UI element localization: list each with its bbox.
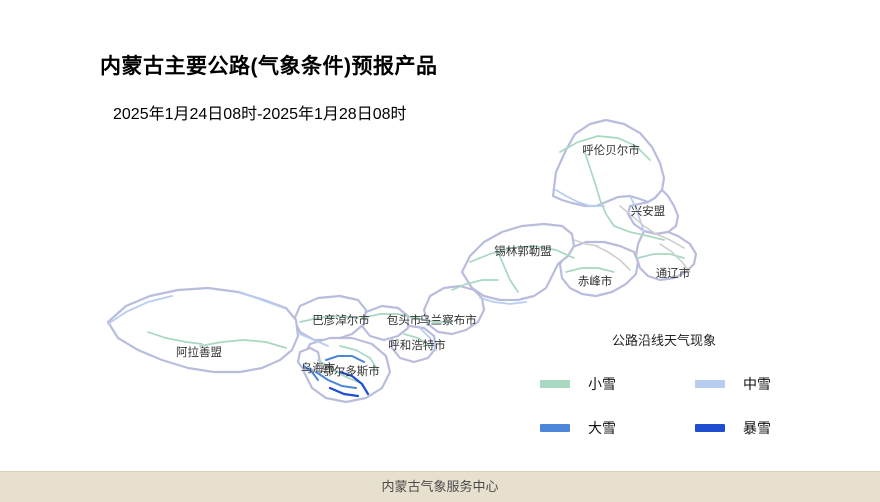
- legend-label-blizzard: 暴雪: [743, 418, 771, 438]
- legend-item-light-snow[interactable]: 小雪: [540, 374, 695, 394]
- map-label-hinggan: 兴安盟: [631, 203, 666, 219]
- map-label-alxa: 阿拉善盟: [176, 344, 222, 360]
- map-label-bayannur: 巴彦淖尔市: [312, 312, 370, 328]
- legend-items: 小雪 中雪 大雪 暴雪: [540, 362, 850, 450]
- map-label-hulunbuir: 呼伦贝尔市: [582, 142, 640, 158]
- legend: 公路沿线天气现象 小雪 中雪 大雪 暴雪: [540, 330, 850, 455]
- legend-row: 小雪 中雪: [540, 362, 850, 406]
- footer-bar: 内蒙古气象服务中心: [0, 471, 880, 502]
- map-label-ulanqab: 乌兰察布市: [419, 312, 477, 328]
- footer-text: 内蒙古气象服务中心: [0, 472, 880, 502]
- legend-swatch-light-snow: [540, 380, 570, 388]
- map-label-tongliao: 通辽市: [656, 265, 691, 281]
- legend-item-heavy-snow[interactable]: 大雪: [540, 418, 695, 438]
- legend-label-moderate-snow: 中雪: [743, 374, 771, 394]
- legend-label-heavy-snow: 大雪: [588, 418, 616, 438]
- legend-item-moderate-snow[interactable]: 中雪: [695, 374, 850, 394]
- legend-label-light-snow: 小雪: [588, 374, 616, 394]
- legend-swatch-heavy-snow: [540, 424, 570, 432]
- map-label-xilingol: 锡林郭勒盟: [494, 243, 552, 259]
- legend-swatch-blizzard: [695, 424, 725, 432]
- map-label-hohhot: 呼和浩特市: [388, 337, 446, 353]
- legend-title: 公路沿线天气现象: [612, 330, 716, 349]
- map-label-chifeng: 赤峰市: [578, 273, 613, 289]
- legend-item-blizzard[interactable]: 暴雪: [695, 418, 850, 438]
- legend-swatch-moderate-snow: [695, 380, 725, 388]
- legend-row: 大雪 暴雪: [540, 406, 850, 450]
- map-label-ordos: 鄂尔多斯市: [322, 363, 380, 379]
- map-label-baotou: 包头市: [387, 312, 422, 328]
- map-page: 内蒙古主要公路(气象条件)预报产品 2025年1月24日08时-2025年1月2…: [0, 0, 880, 502]
